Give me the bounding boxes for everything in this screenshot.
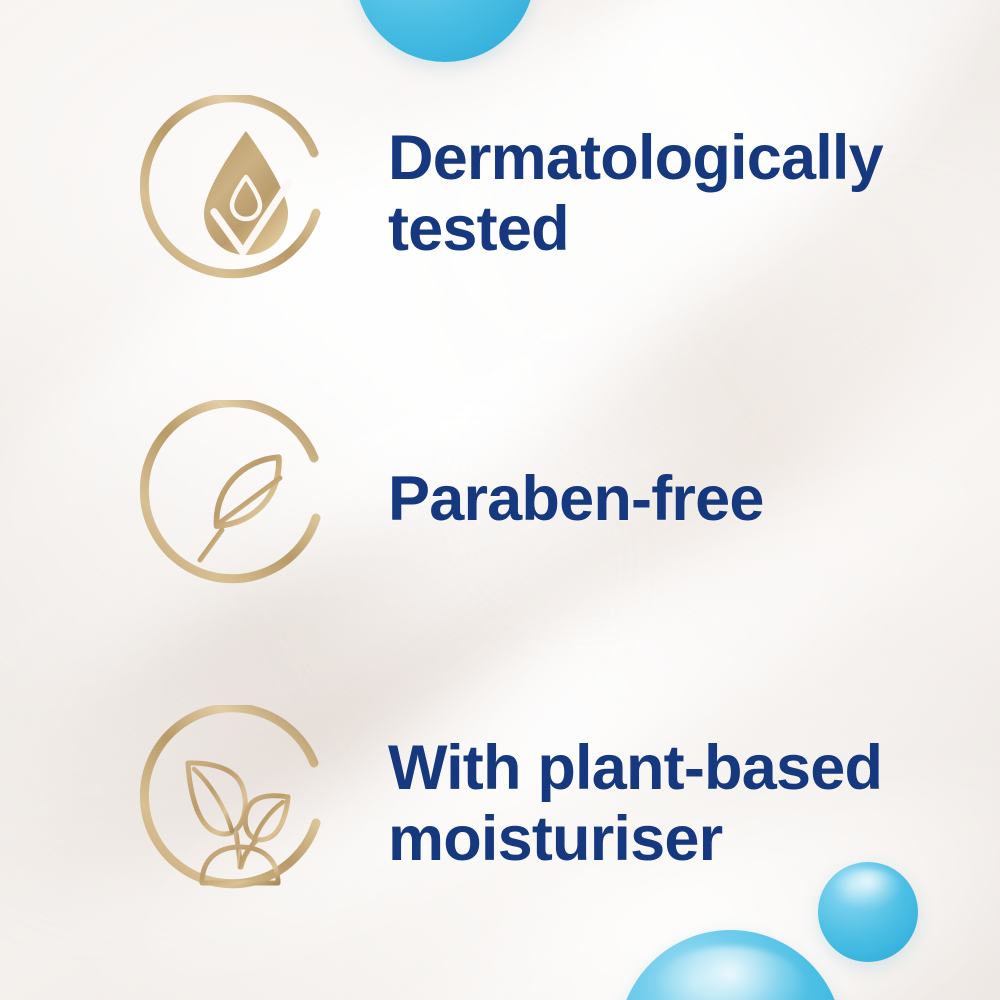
droplet-check-icon — [140, 95, 340, 295]
feature-badge-panel: Dermatologically tested Paraben-free — [0, 0, 1000, 1000]
feature-label-paraben-free: Paraben-free — [388, 464, 764, 535]
sprout-icon — [140, 705, 340, 905]
feature-label-dermatologically-tested: Dermatologically tested — [388, 123, 883, 265]
leaf-icon — [140, 400, 340, 600]
feature-row-paraben-free: Paraben-free — [140, 400, 764, 600]
bubble-highlight — [654, 946, 807, 1000]
feature-row-plant-based-moisturiser: With plant-based moisturiser — [140, 705, 882, 905]
feature-row-dermatologically-tested: Dermatologically tested — [140, 95, 883, 295]
feature-label-plant-based-moisturiser: With plant-based moisturiser — [388, 733, 882, 875]
